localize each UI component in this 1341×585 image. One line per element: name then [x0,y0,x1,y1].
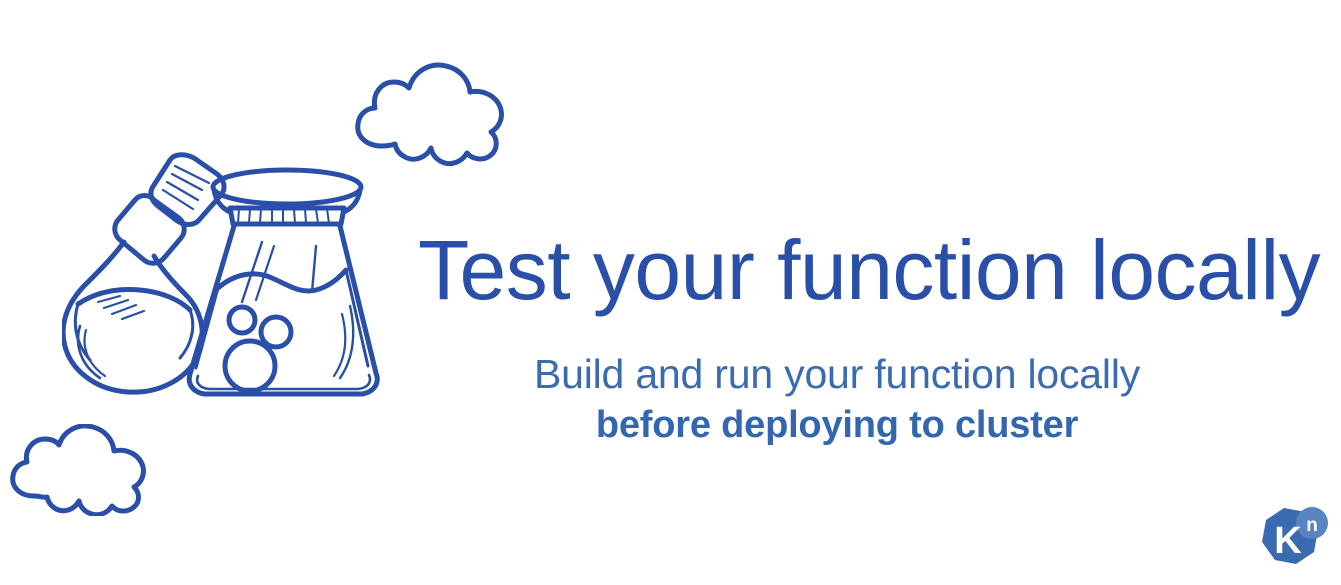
slide-canvas: Test your function locally Build and run… [0,0,1341,585]
flasks-illustration [62,142,392,414]
cloud-icon [348,58,514,168]
subtitle-line-1: Build and run your function locally [418,348,1256,400]
page-title: Test your function locally [418,228,1278,312]
logo-letter-n: n [1306,515,1318,536]
knative-logo: K n [1258,506,1330,576]
subtitle-line-2: before deploying to cluster [418,400,1256,451]
subtitle-block: Build and run your function locally befo… [418,348,1256,452]
logo-letter-k: K [1274,520,1302,562]
cloud-icon [4,424,164,516]
